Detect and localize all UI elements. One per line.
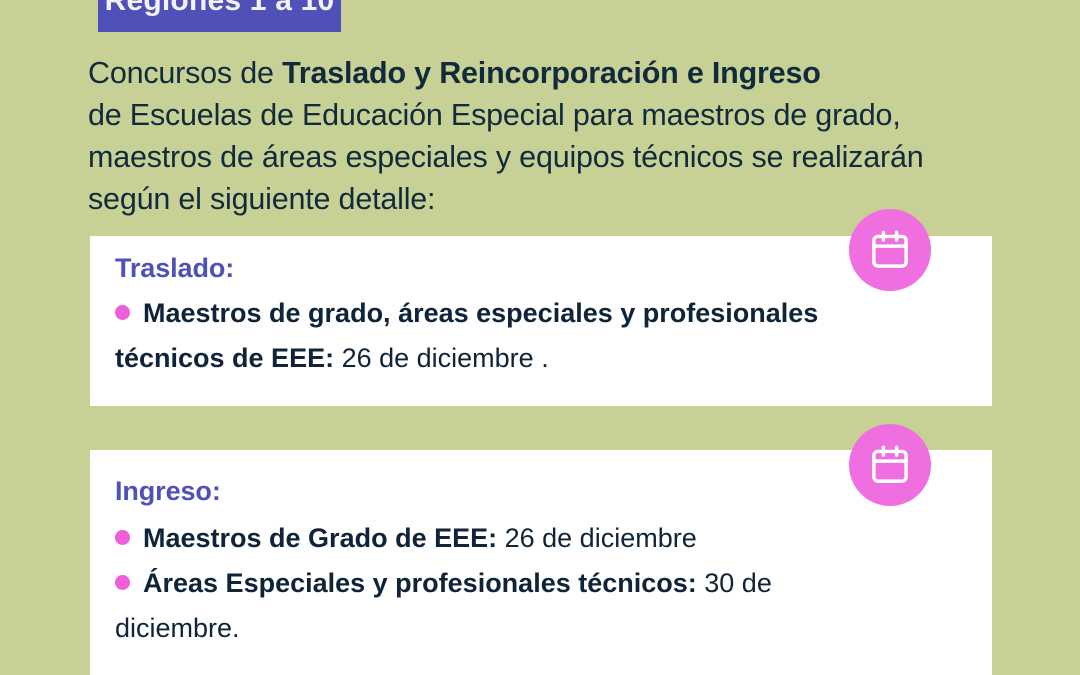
calendar-badge-traslado <box>849 209 931 291</box>
bullet-dot-icon <box>115 575 130 590</box>
list-item-bold-b: técnicos de EEE: <box>115 343 334 373</box>
list-item-regular: 26 de diciembre . <box>334 343 549 373</box>
poster-canvas: Regiones 1 a 10 Concursos de Traslado y … <box>0 0 1080 675</box>
list-item-bold-a: Maestros de Grado de EEE: <box>143 523 497 553</box>
list-item-wrap: técnicos de EEE: 26 de diciembre . <box>115 336 974 381</box>
list-item: Maestros de Grado de EEE: 26 de diciembr… <box>115 516 974 561</box>
bullet-dot-icon <box>115 530 130 545</box>
list-item: Áreas Especiales y profesionales técnico… <box>115 561 974 651</box>
intro-paragraph: Concursos de Traslado y Reincorporación … <box>88 52 998 220</box>
intro-line-4: según el siguiente detalle: <box>88 178 998 220</box>
list-item-regular: 30 de <box>697 568 772 598</box>
intro-line-3: maestros de áreas especiales y equipos t… <box>88 136 998 178</box>
regions-badge-label: Regiones 1 a 10 <box>105 0 335 16</box>
list-item-bold-a: Maestros de grado, áreas especiales y pr… <box>143 298 818 328</box>
card-traslado-body: Maestros de grado, áreas especiales y pr… <box>115 291 974 381</box>
list-item-regular: 26 de diciembre <box>497 523 697 553</box>
intro-line-1-prefix: Concursos de <box>88 56 282 90</box>
intro-line-1: Concursos de Traslado y Reincorporación … <box>88 52 998 94</box>
list-item-wrap: diciembre. <box>115 606 974 651</box>
calendar-icon <box>868 443 912 487</box>
bullet-dot-icon <box>115 305 130 320</box>
calendar-badge-ingreso <box>849 424 931 506</box>
intro-line-1-bold: Traslado y Reincorporación e Ingreso <box>282 56 821 90</box>
card-ingreso-title: Ingreso: <box>115 476 221 507</box>
card-traslado-title: Traslado: <box>115 253 234 284</box>
list-item: Maestros de grado, áreas especiales y pr… <box>115 291 974 381</box>
regions-badge: Regiones 1 a 10 <box>98 0 341 32</box>
calendar-icon <box>868 228 912 272</box>
intro-line-2: de Escuelas de Educación Especial para m… <box>88 94 998 136</box>
card-ingreso-body: Maestros de Grado de EEE: 26 de diciembr… <box>115 516 974 651</box>
list-item-bold-a: Áreas Especiales y profesionales técnico… <box>143 568 697 598</box>
